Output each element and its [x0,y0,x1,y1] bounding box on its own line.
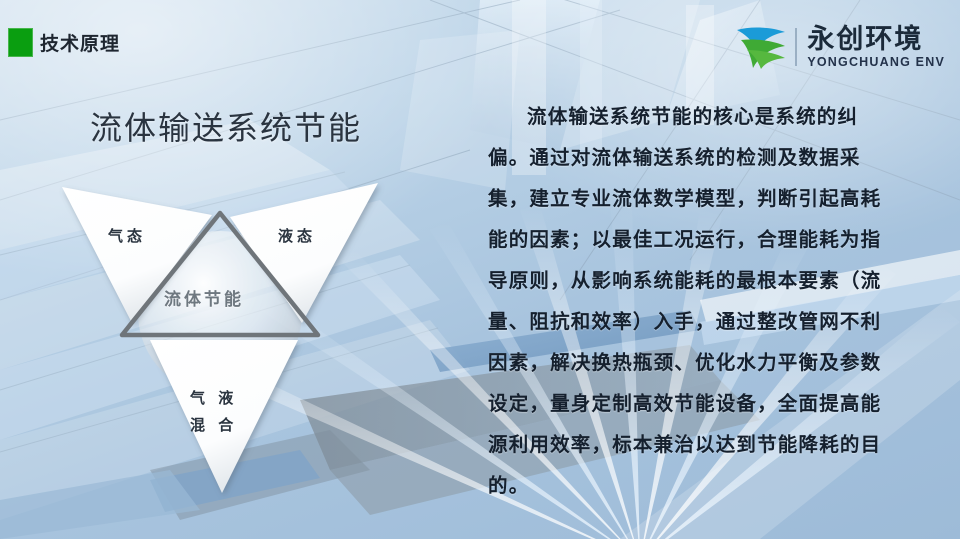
logo-wordmark: 永创环境 YONGCHUANG ENV [807,26,945,69]
logo-divider [795,28,797,66]
slide-header: 技术原理 永创环境 YONGCHUANG ENV [0,0,960,78]
logo-name-en: YONGCHUANG ENV [807,56,945,69]
diagram-label-mix-line1: 气 液 [190,385,237,412]
logo-name-cn: 永创环境 [807,26,945,53]
diagram-center-label: 流体节能 [164,285,244,310]
presentation-slide: 技术原理 永创环境 YONGCHUANG ENV 流体输送系统节能 [0,0,960,539]
section-accent-square [8,28,33,57]
company-logo: 永创环境 YONGCHUANG ENV [733,22,945,72]
fluid-energy-triangle-diagram: 气态 液态 气 液 混 合 流体节能 [40,175,440,505]
slide-title: 流体输送系统节能 [90,103,362,149]
diagram-label-mix: 气 液 混 合 [190,385,237,439]
body-paragraph: 流体输送系统节能的核心是系统的纠偏。通过对流体输送系统的检测及数据采集，建立专业… [488,96,883,506]
diagram-label-gas: 气态 [108,225,146,246]
diagram-label-liquid: 液态 [278,225,316,246]
diagram-label-mix-line2: 混 合 [190,412,237,439]
leaf-icon [733,24,789,70]
section-label: 技术原理 [40,29,120,56]
